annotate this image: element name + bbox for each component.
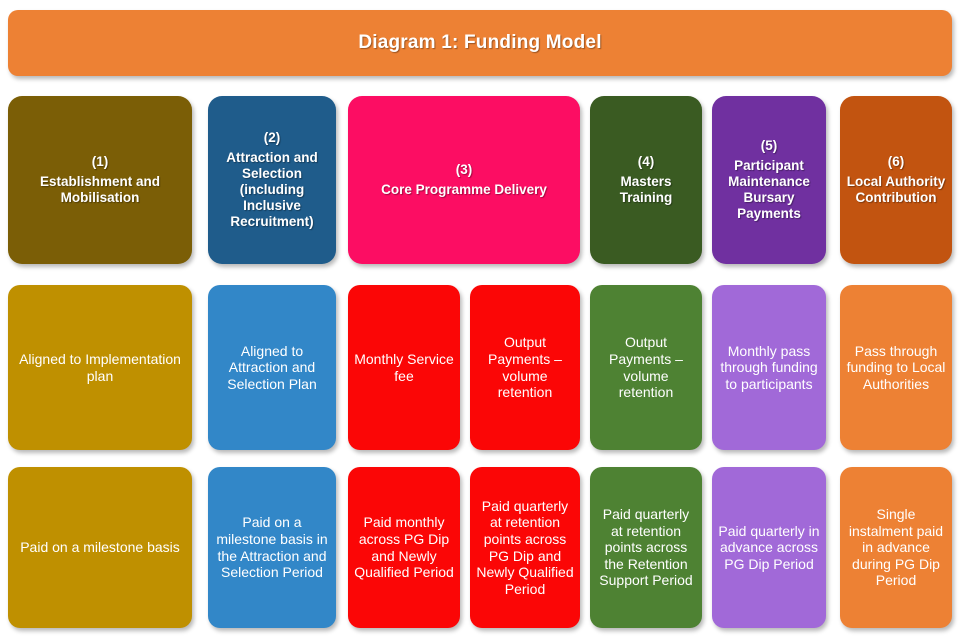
header-label-1: Establishment and Mobilisation <box>14 174 186 206</box>
header-label-4: Masters Training <box>596 174 696 206</box>
header-number-3: (3) <box>381 162 547 178</box>
diagram-title: Diagram 1: Funding Model <box>14 32 946 54</box>
header-box-masters-training: (4) Masters Training <box>590 96 702 264</box>
header-number-2: (2) <box>214 130 330 146</box>
schedule-label-3a: Paid monthly across PG Dip and Newly Qua… <box>354 514 454 580</box>
mechanism-label-3b: Output Payments – volume retention <box>476 334 574 400</box>
header-label-6: Local Authority Contribution <box>846 174 946 206</box>
mechanism-box-local-authority-contribution: Pass through funding to Local Authoritie… <box>840 285 952 450</box>
schedule-box-establishment-and-mobilisation: Paid on a milestone basis <box>8 467 192 628</box>
mechanism-box-participant-maintenance-bursary-payments: Monthly pass through funding to particip… <box>712 285 826 450</box>
header-number-1: (1) <box>14 154 186 170</box>
header-number-6: (6) <box>846 154 946 170</box>
header-box-attraction-and-selection: (2) Attraction and Selection (including … <box>208 96 336 264</box>
mechanism-box-establishment-and-mobilisation: Aligned to Implementation plan <box>8 285 192 450</box>
header-number-5: (5) <box>718 138 820 154</box>
diagram-title-banner: Diagram 1: Funding Model <box>8 10 952 76</box>
schedule-box-local-authority-contribution: Single instalment paid in advance during… <box>840 467 952 628</box>
header-label-2: Attraction and Selection (including Incl… <box>214 150 330 230</box>
schedule-box-participant-maintenance-bursary-payments: Paid quarterly in advance across PG Dip … <box>712 467 826 628</box>
header-box-local-authority-contribution: (6) Local Authority Contribution <box>840 96 952 264</box>
mechanism-label-3a: Monthly Service fee <box>354 351 454 384</box>
header-box-participant-maintenance-bursary-payments: (5) Participant Maintenance Bursary Paym… <box>712 96 826 264</box>
header-box-core-programme-delivery: (3) Core Programme Delivery <box>348 96 580 264</box>
header-number-4: (4) <box>596 154 696 170</box>
mechanism-box-attraction-and-selection: Aligned to Attraction and Selection Plan <box>208 285 336 450</box>
schedule-label-3b: Paid quarterly at retention points acros… <box>476 498 574 597</box>
mechanism-box-masters-training: Output Payments – volume retention <box>590 285 702 450</box>
schedule-box-masters-training: Paid quarterly at retention points acros… <box>590 467 702 628</box>
schedule-box-attraction-and-selection: Paid on a milestone basis in the Attract… <box>208 467 336 628</box>
schedule-label-1: Paid on a milestone basis <box>14 539 186 556</box>
schedule-label-6: Single instalment paid in advance during… <box>846 506 946 589</box>
schedule-label-2: Paid on a milestone basis in the Attract… <box>214 514 330 580</box>
mechanism-label-5: Monthly pass through funding to particip… <box>718 343 820 393</box>
schedule-label-4: Paid quarterly at retention points acros… <box>596 506 696 589</box>
mechanism-label-1: Aligned to Implementation plan <box>14 351 186 384</box>
schedule-box-core-programme-output-payments: Paid quarterly at retention points acros… <box>470 467 580 628</box>
mechanism-box-core-programme-service-fee: Monthly Service fee <box>348 285 460 450</box>
header-box-establishment-and-mobilisation: (1) Establishment and Mobilisation <box>8 96 192 264</box>
schedule-label-5: Paid quarterly in advance across PG Dip … <box>718 523 820 573</box>
mechanism-box-core-programme-output-payments: Output Payments – volume retention <box>470 285 580 450</box>
header-label-3: Core Programme Delivery <box>381 182 547 198</box>
funding-model-diagram: Diagram 1: Funding Model (1) Establishme… <box>0 0 960 640</box>
header-label-5: Participant Maintenance Bursary Payments <box>718 158 820 222</box>
mechanism-label-6: Pass through funding to Local Authoritie… <box>846 343 946 393</box>
mechanism-label-2: Aligned to Attraction and Selection Plan <box>214 343 330 393</box>
mechanism-label-4: Output Payments – volume retention <box>596 334 696 400</box>
schedule-box-core-programme-service-fee: Paid monthly across PG Dip and Newly Qua… <box>348 467 460 628</box>
